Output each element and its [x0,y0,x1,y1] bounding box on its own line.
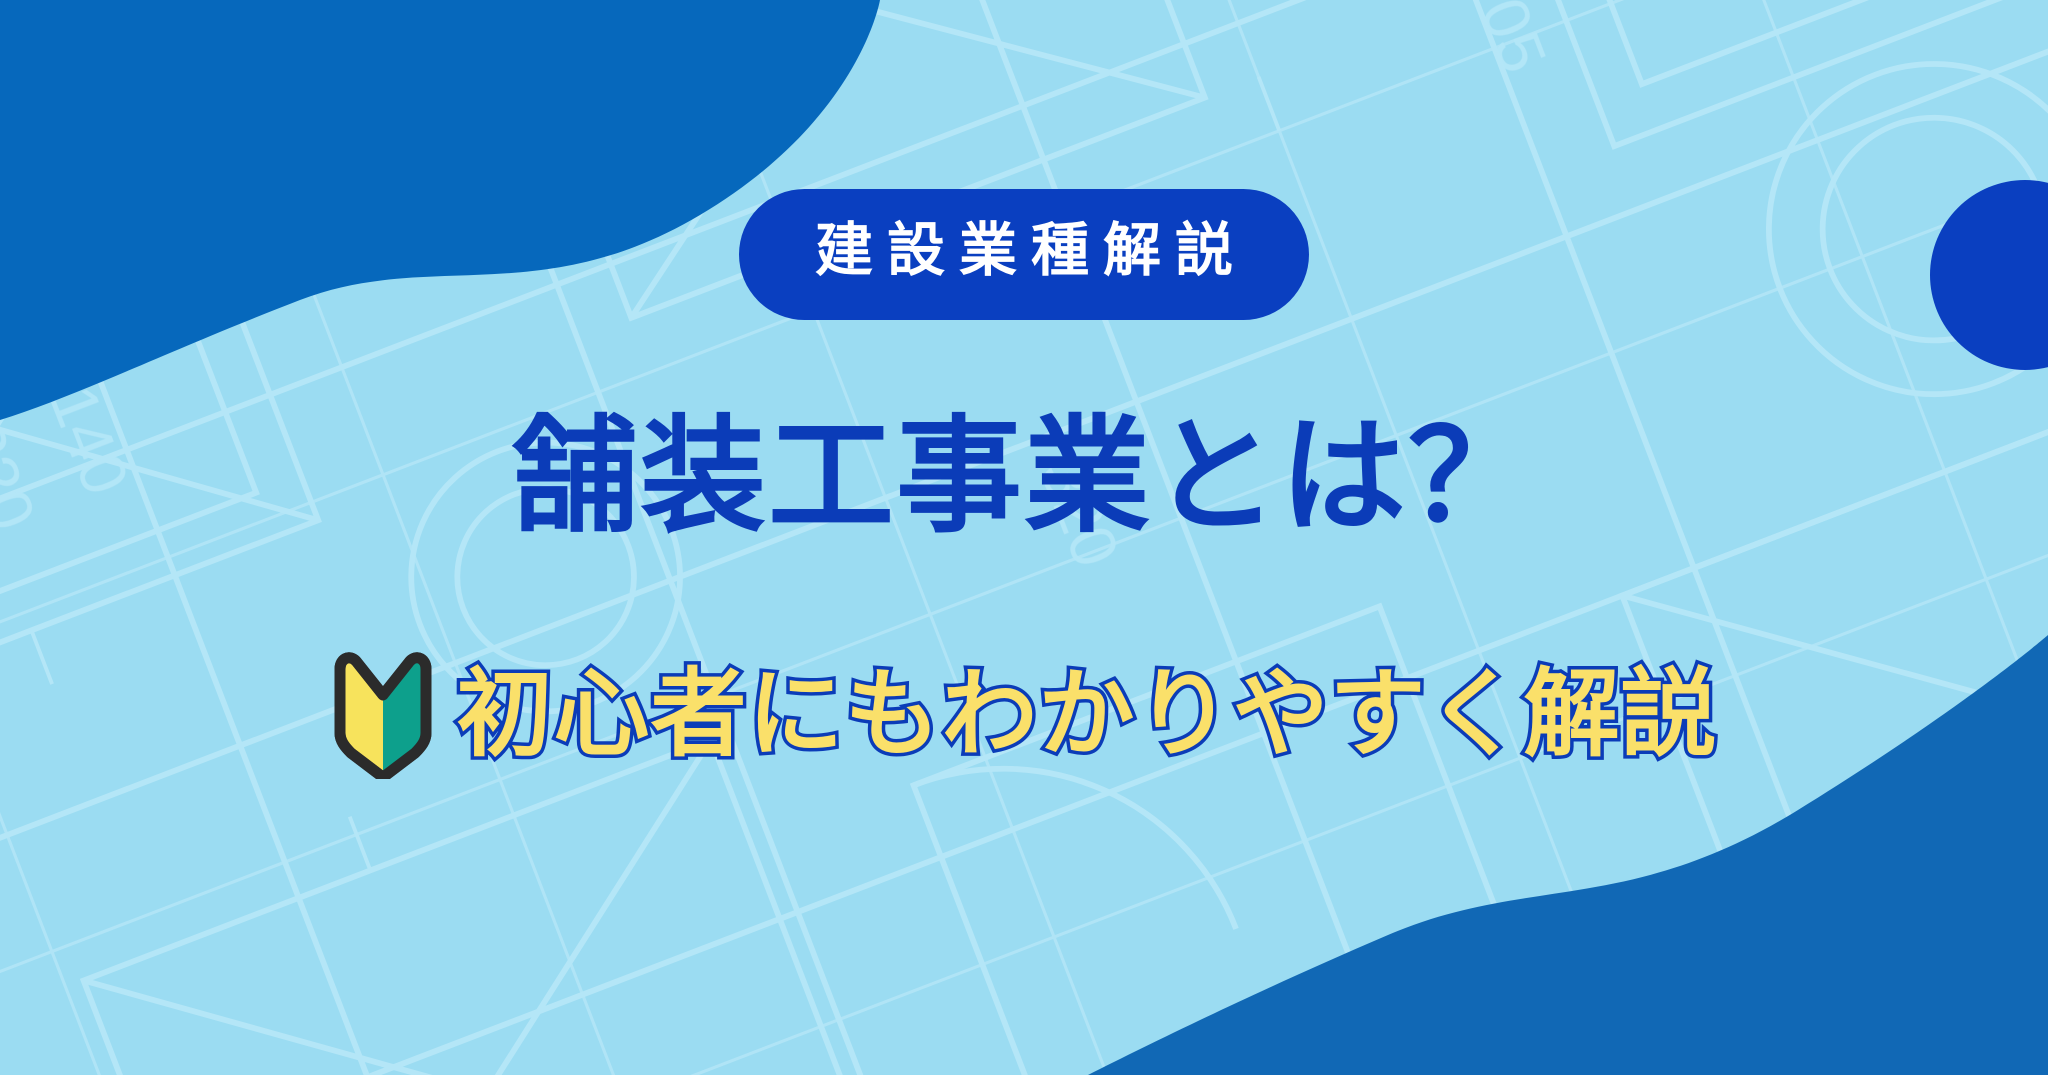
banner-content: 建設業種解説 舗装工事業とは？ 初心者にもわかりやすく解説 [0,0,2048,1075]
category-badge: 建設業種解説 [739,189,1309,320]
page-title: 舗装工事業とは？ [512,408,1536,547]
subtitle-row: 初心者にもわかりやすく解説 [331,651,1718,779]
page-subtitle: 初心者にもわかりやすく解説 [457,661,1718,769]
banner-canvas: 320 140 200 80 285 2/05 250 100 320 建設業種… [0,0,2048,1075]
beginner-mark-icon [331,651,435,779]
